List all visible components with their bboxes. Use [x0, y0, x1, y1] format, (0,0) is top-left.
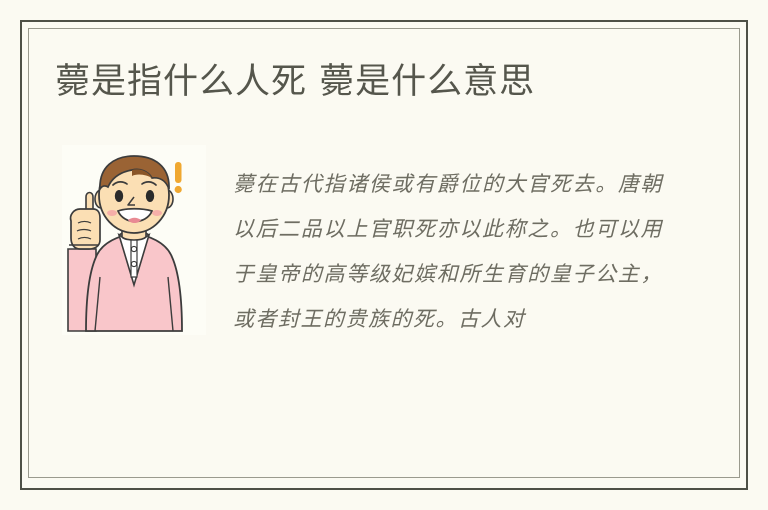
page-title: 薨是指什么人死 薨是什么意思: [55, 60, 715, 104]
shirt-placket: [131, 238, 137, 277]
eye-left: [115, 190, 123, 202]
illustration-cartoon-man-pointing: [62, 145, 206, 335]
exclamation-icon: [175, 162, 182, 193]
article-content: 薨在古代指诸侯或有爵位的大官死去。唐朝以后二品以上官职死亦以此称之。也可以用于皇…: [55, 140, 715, 440]
page-root: 薨是指什么人死 薨是什么意思: [0, 0, 768, 510]
shirt-button-bottom: [131, 261, 136, 266]
eye-right: [146, 190, 154, 202]
cheek-left: [107, 210, 117, 216]
cartoon-man-svg: [62, 145, 206, 335]
shirt-button-top: [131, 246, 136, 251]
article-body: 薨在古代指诸侯或有爵位的大官死去。唐朝以后二品以上官职死亦以此称之。也可以用于皇…: [233, 162, 663, 342]
cheek-right: [152, 210, 162, 216]
